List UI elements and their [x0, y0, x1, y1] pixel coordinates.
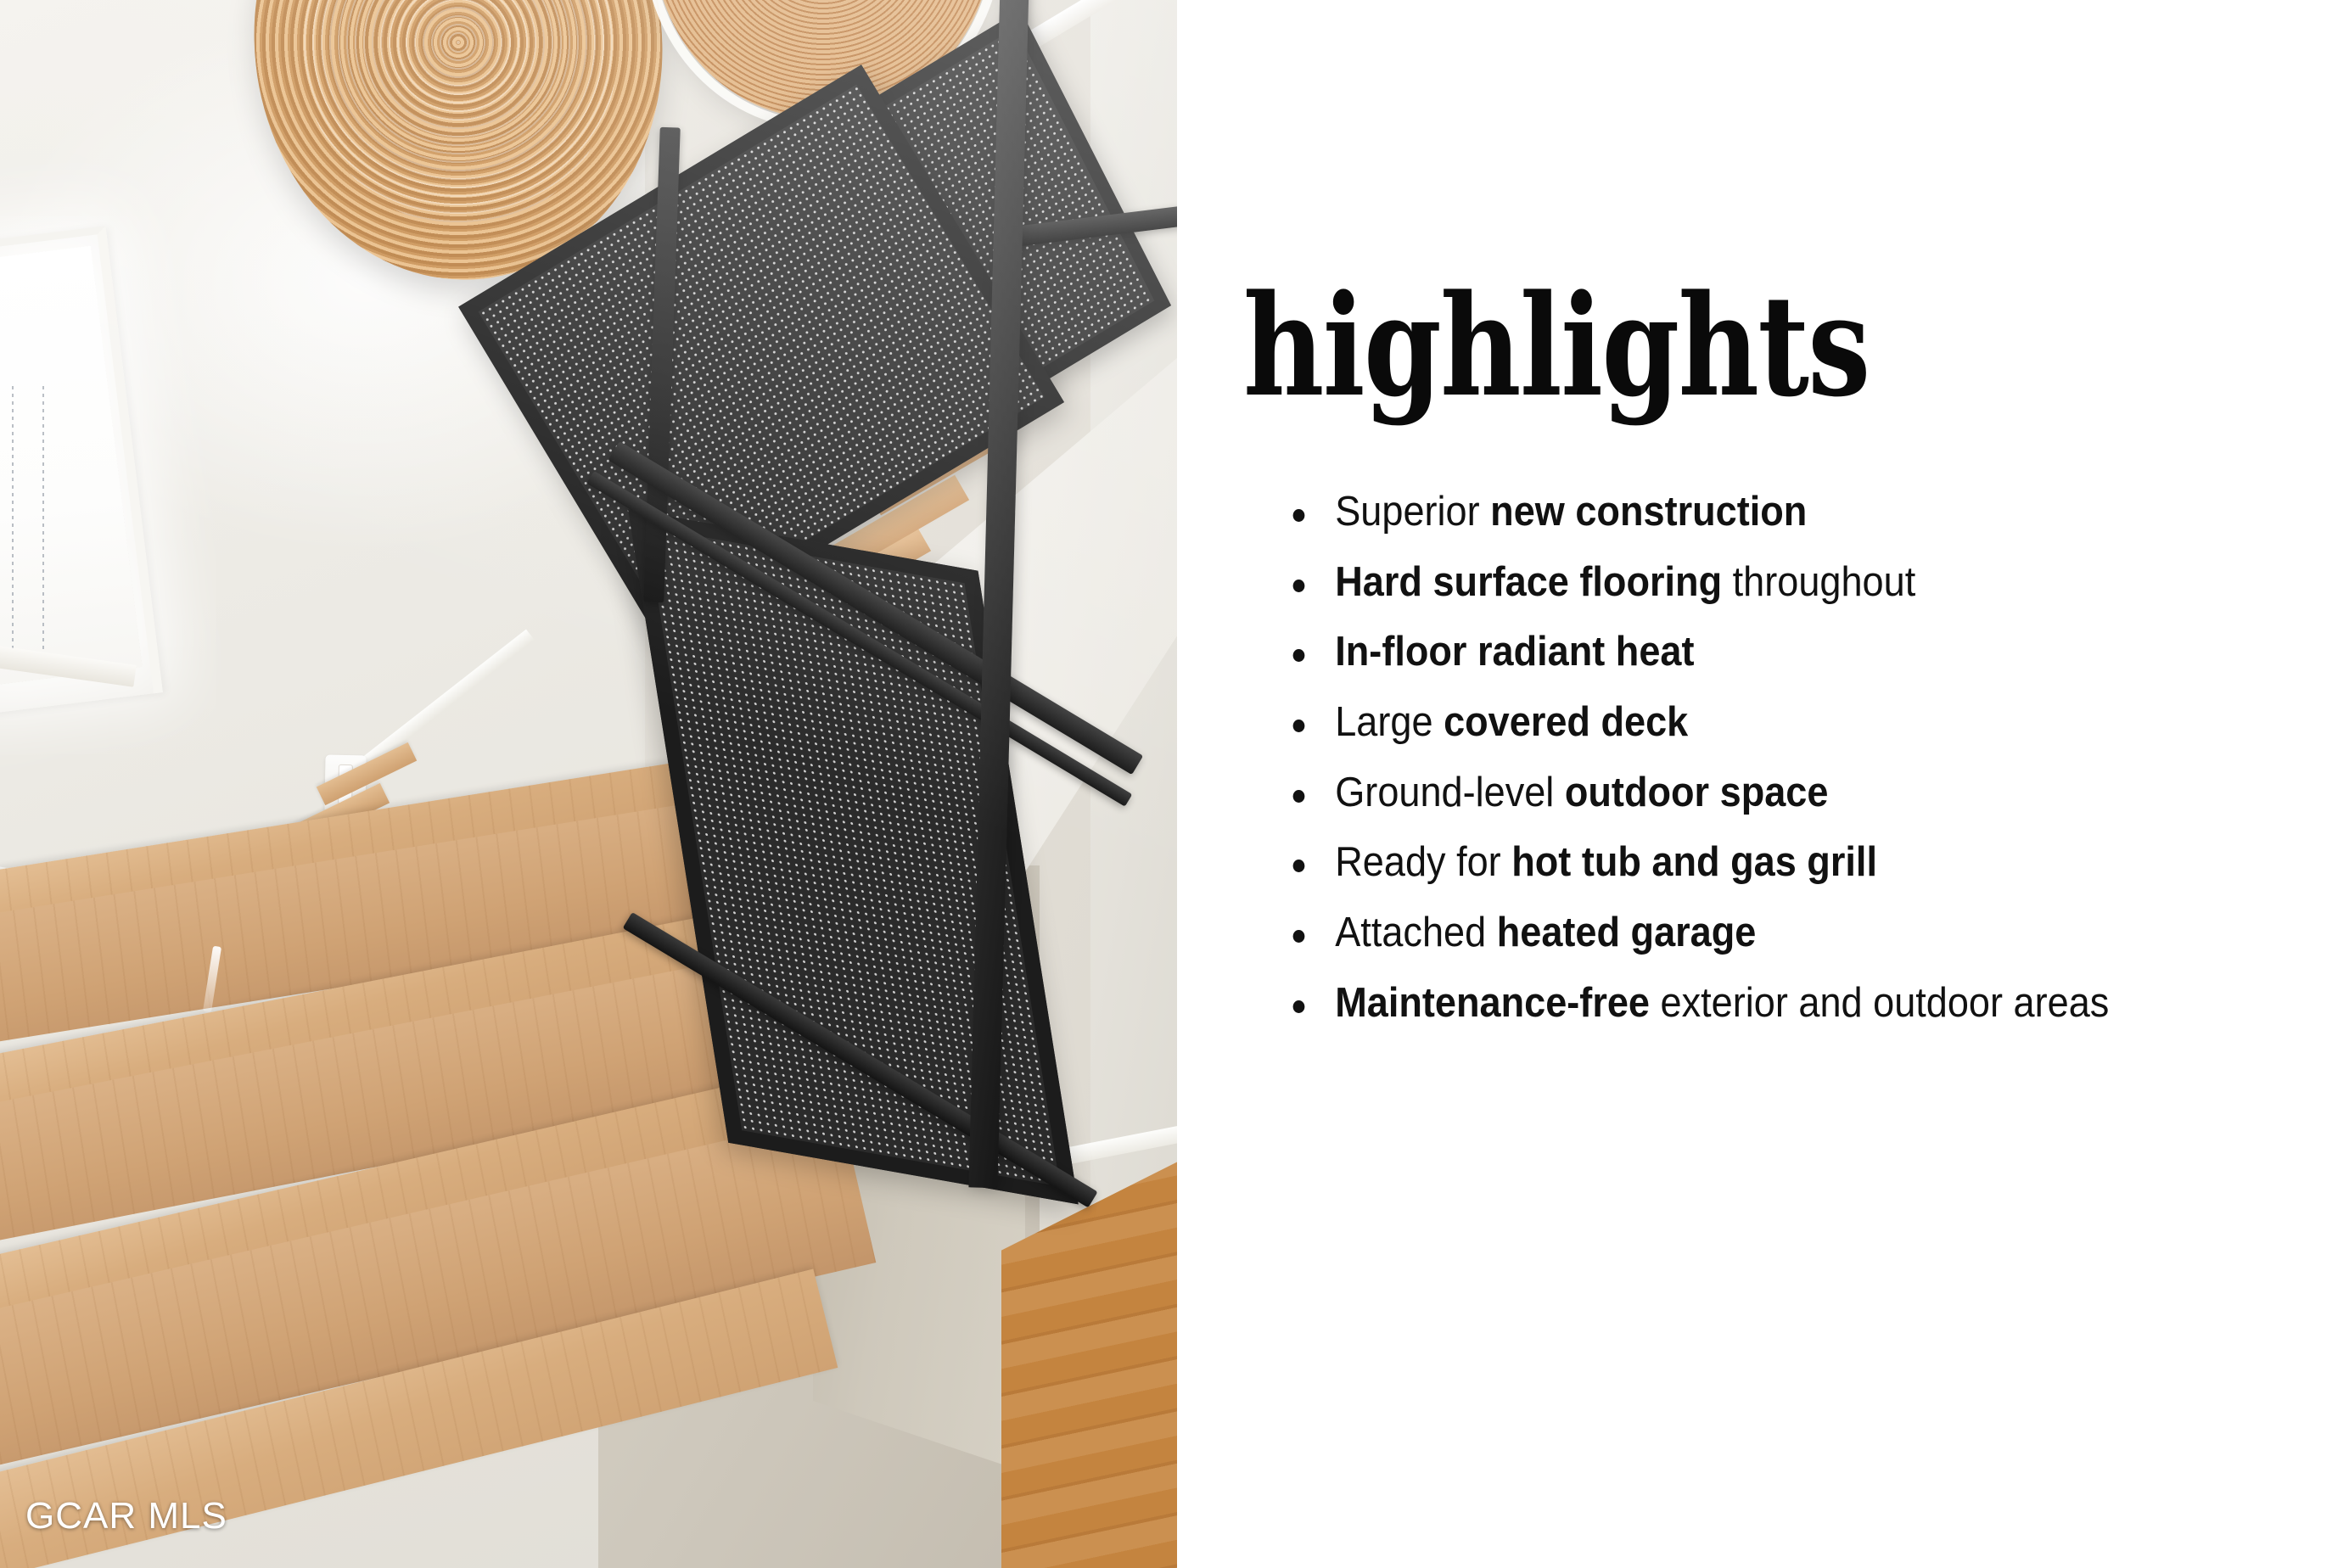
highlight-text-emphasis: heated garage — [1497, 910, 1757, 955]
highlight-item: Hard surface flooring throughout — [1279, 556, 2231, 610]
highlights-list: Superior new constructionHard surface fl… — [1279, 485, 2314, 1047]
highlight-text-emphasis: Hard surface flooring — [1335, 559, 1722, 605]
highlight-text-emphasis: Maintenance-free — [1335, 980, 1650, 1026]
highlights-slide: GCAR MLS highlights Superior new constru… — [0, 0, 2349, 1568]
highlight-text-tail: exterior and outdoor areas — [1650, 980, 2109, 1026]
highlight-item: Attached heated garage — [1279, 906, 2231, 960]
stair-treads — [0, 864, 832, 1568]
property-photo: GCAR MLS — [0, 0, 1177, 1568]
mls-watermark: GCAR MLS — [25, 1495, 227, 1537]
highlight-text-tail: throughout — [1722, 559, 1915, 605]
highlight-text-lead: Ready for — [1335, 839, 1511, 885]
highlight-text-lead: Ground-level — [1335, 770, 1565, 815]
highlight-item: Large covered deck — [1279, 696, 2231, 750]
highlight-text-emphasis: In-floor radiant heat — [1335, 629, 1694, 675]
highlight-item: Ground-level outdoor space — [1279, 766, 2231, 820]
highlights-panel: highlights Superior new constructionHard… — [1177, 0, 2349, 1568]
highlight-text-lead: Superior — [1335, 489, 1490, 535]
highlight-text-emphasis: new construction — [1490, 489, 1807, 535]
highlight-text-emphasis: covered deck — [1444, 699, 1688, 745]
highlight-item: Maintenance-free exterior and outdoor ar… — [1279, 977, 2231, 1031]
highlight-text-emphasis: outdoor space — [1565, 770, 1829, 815]
highlight-item: Superior new construction — [1279, 485, 2231, 540]
highlight-item: In-floor radiant heat — [1279, 625, 2231, 680]
highlight-text-lead: Large — [1335, 699, 1444, 745]
highlight-text-lead: Attached — [1335, 910, 1496, 955]
highlight-text-emphasis: hot tub and gas grill — [1511, 839, 1877, 885]
roller-shade-cords — [7, 386, 58, 666]
page-title: highlights — [1243, 277, 1870, 416]
highlight-item: Ready for hot tub and gas grill — [1279, 836, 2231, 890]
